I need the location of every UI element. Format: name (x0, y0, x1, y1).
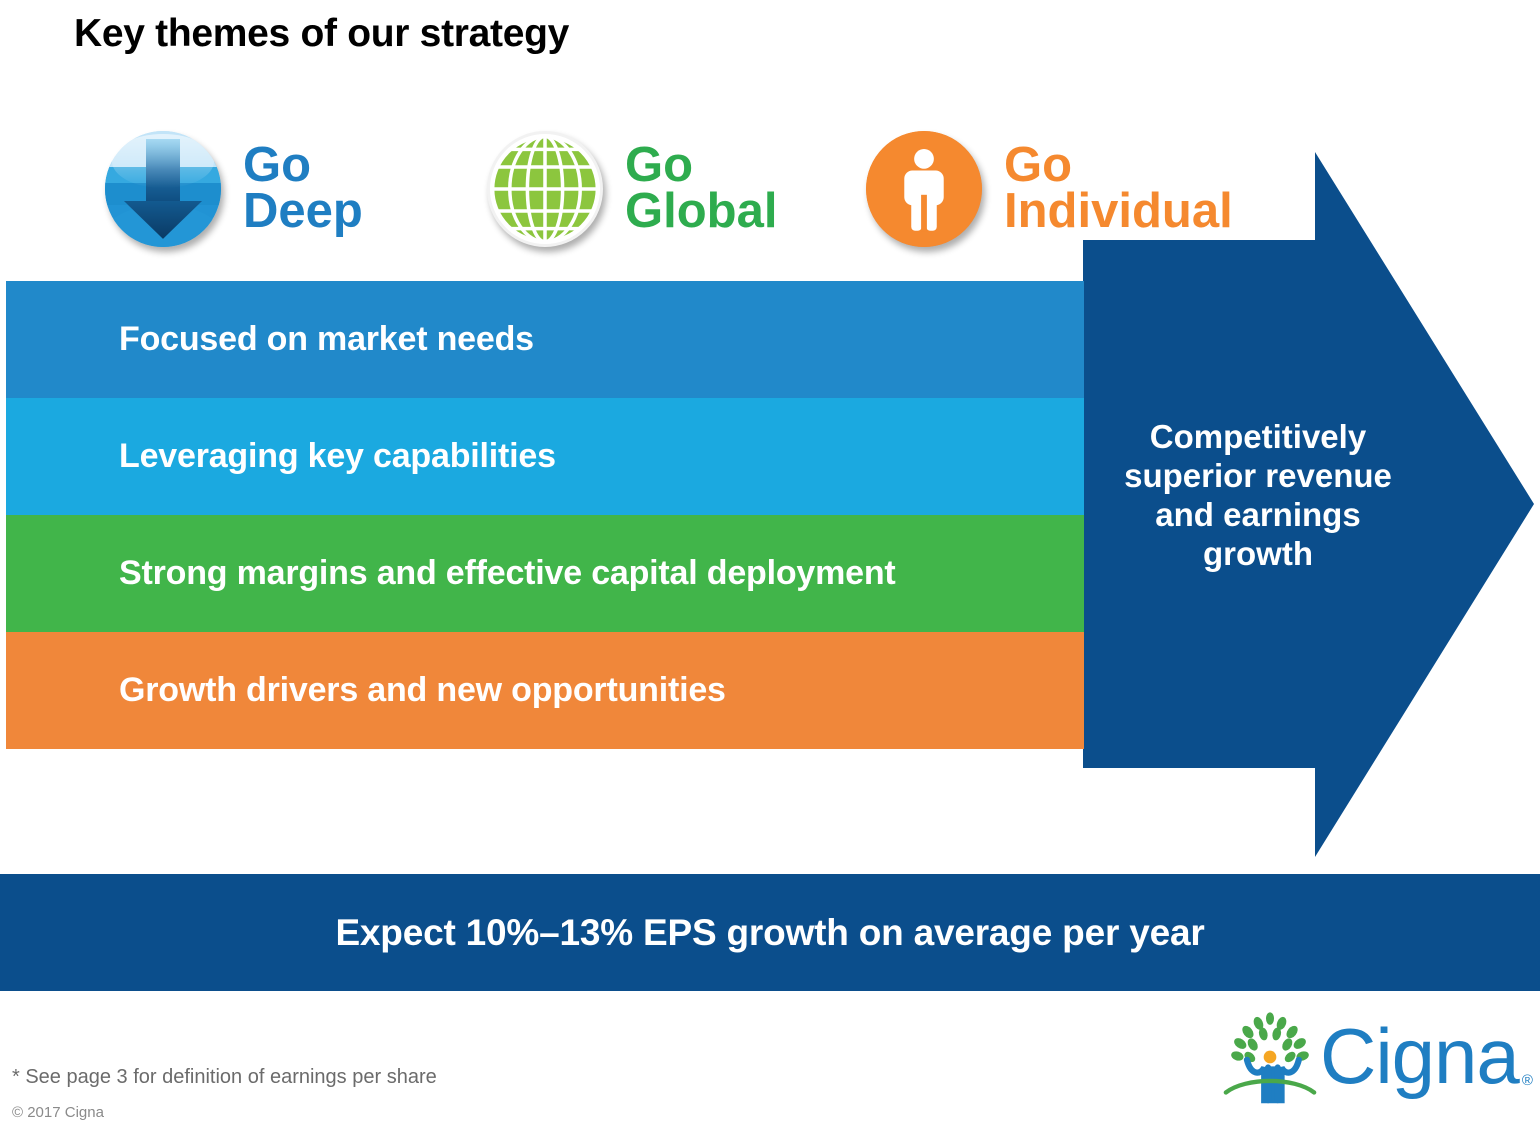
theme-go-global[interactable]: Go Global (487, 118, 777, 260)
cigna-wordmark: Cigna (1320, 1017, 1519, 1095)
green-globe-icon (487, 131, 603, 247)
copyright-notice: © 2017 Cigna (12, 1104, 104, 1121)
strategy-bar-leveraging-key-capabilities[interactable]: Leveraging key capabilities (6, 398, 1084, 515)
theme-go-individual-label: Go Individual (1004, 143, 1233, 234)
strategy-bar-label: Leveraging key capabilities (119, 437, 556, 476)
strategy-bar-label: Strong margins and effective capital dep… (119, 554, 896, 593)
outcome-arrow-line3: and earnings (1098, 496, 1418, 535)
eps-growth-banner: Expect 10%–13% EPS growth on average per… (0, 874, 1540, 991)
strategy-bar-growth-drivers[interactable]: Growth drivers and new opportunities (6, 632, 1084, 749)
outcome-arrow-line4: growth (1098, 535, 1418, 574)
theme-row: Go Deep Go Glo (0, 118, 1300, 260)
cigna-logo: Cigna ® (1222, 1008, 1518, 1104)
strategy-bar-focused-on-market-needs[interactable]: Focused on market needs (6, 281, 1084, 398)
cigna-tree-figure-icon (1222, 1008, 1318, 1104)
strategy-bar-label: Growth drivers and new opportunities (119, 671, 726, 710)
outcome-arrow-line1: Competitively (1098, 418, 1418, 457)
theme-go-deep-line2: Deep (243, 189, 363, 235)
registered-trademark-icon: ® (1522, 1072, 1533, 1095)
theme-go-individual[interactable]: Go Individual (866, 118, 1233, 260)
page-title: Key themes of our strategy (74, 12, 569, 56)
theme-go-deep[interactable]: Go Deep (105, 118, 363, 260)
theme-go-global-line2: Global (625, 189, 777, 235)
footnote: * See page 3 for definition of earnings … (12, 1066, 437, 1089)
eps-growth-banner-text: Expect 10%–13% EPS growth on average per… (335, 912, 1204, 954)
strategy-bar-label: Focused on market needs (119, 320, 534, 359)
theme-go-individual-line2: Individual (1004, 189, 1233, 235)
outcome-arrow-line2: superior revenue (1098, 457, 1418, 496)
strategy-bar-strong-margins[interactable]: Strong margins and effective capital dep… (6, 515, 1084, 632)
theme-go-deep-label: Go Deep (243, 143, 363, 234)
outcome-arrow-text: Competitively superior revenue and earni… (1098, 418, 1418, 574)
orange-person-circle-icon (866, 131, 982, 247)
theme-go-global-label: Go Global (625, 143, 777, 234)
blue-down-arrow-sphere-icon (105, 131, 221, 247)
